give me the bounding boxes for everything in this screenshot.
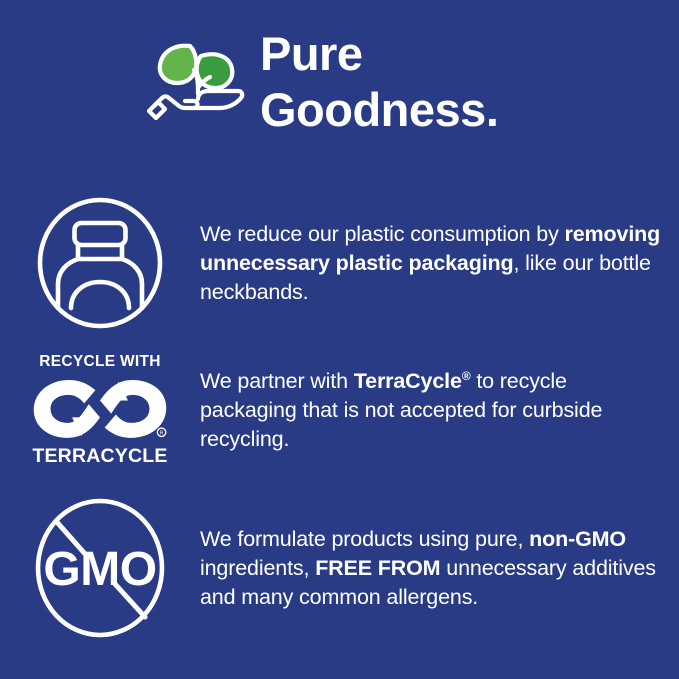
text-segment: We formulate products using pure, [200,527,529,551]
feature-text-non-gmo: We formulate products using pure, non-GM… [200,525,679,612]
feature-text-terracycle: We partner with TerraCycle® to recycle p… [200,367,679,454]
terracycle-recycle-badge-icon: RECYCLE WITH [25,353,175,467]
header: Pure Goodness. [0,26,679,151]
text-segment: ingredients, [200,556,315,580]
bottle-in-circle-icon [33,196,167,330]
feature-row-plastic-reduction: We reduce our plastic consumption by rem… [0,196,679,330]
pure-goodness-infographic: Pure Goodness. We reduce ou [0,0,679,679]
text-segment: We reduce our plastic consumption by [200,222,565,246]
text-segment: We partner with [200,369,354,393]
text-segment-bold: FREE FROM [315,556,440,580]
infinity-recycle-arrows-icon: R [30,374,170,442]
no-gmo-label: GMO [43,543,156,596]
feature-icon-slot: RECYCLE WITH [0,353,200,467]
svg-text:R: R [160,431,164,437]
feature-icon-slot: GMO [0,495,200,641]
feature-row-terracycle: RECYCLE WITH [0,345,679,475]
feature-row-non-gmo: GMO We formulate products using pure, no… [0,492,679,644]
hand-holding-sprout-icon [146,32,250,136]
text-segment-bold: TerraCycle [354,369,462,393]
feature-text-plastic-reduction: We reduce our plastic consumption by rem… [200,220,679,307]
feature-icon-slot [0,196,200,330]
text-segment-bold: non-GMO [529,527,626,551]
page-title: Pure Goodness. [260,26,498,138]
registered-trademark-symbol: ® [462,368,471,382]
badge-top-label: RECYCLE WITH [39,353,161,370]
badge-bottom-label: TERRACYCLE [32,445,167,467]
no-gmo-icon: GMO [29,495,171,641]
